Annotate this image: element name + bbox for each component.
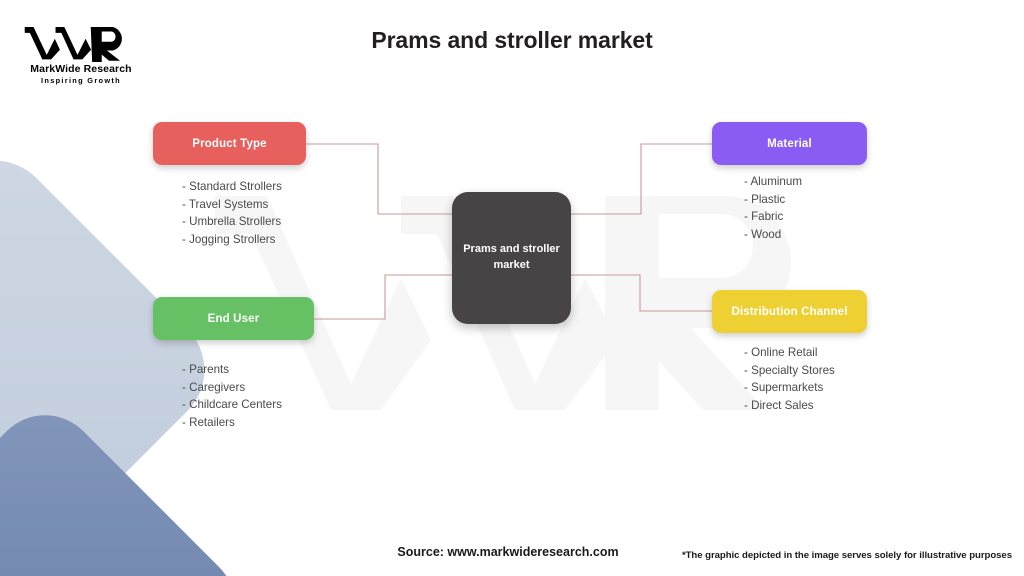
branch-items-end-user: - Parents - Caregivers - Childcare Cente…	[182, 361, 282, 431]
list-item: - Standard Strollers	[182, 178, 282, 196]
list-item: - Direct Sales	[744, 397, 835, 415]
list-item: - Online Retail	[744, 344, 835, 362]
list-item: - Retailers	[182, 414, 282, 432]
list-item: - Travel Systems	[182, 196, 282, 214]
list-item: - Childcare Centers	[182, 396, 282, 414]
branch-node-distribution-channel[interactable]: Distribution Channel	[712, 290, 867, 333]
list-item: - Plastic	[744, 191, 802, 209]
list-item: - Umbrella Strollers	[182, 213, 282, 231]
disclaimer-note: *The graphic depicted in the image serve…	[682, 550, 1012, 561]
branch-node-material[interactable]: Material	[712, 122, 867, 165]
branch-node-product-type[interactable]: Product Type	[153, 122, 306, 165]
list-item: - Jogging Strollers	[182, 231, 282, 249]
slide-canvas: MarkWide Research Inspiring Growth Prams…	[0, 0, 1024, 576]
list-item: - Aluminum	[744, 173, 802, 191]
list-item: - Supermarkets	[744, 379, 835, 397]
branch-label-distribution-channel: Distribution Channel	[731, 306, 847, 318]
branch-label-product-type: Product Type	[192, 138, 266, 150]
center-node-label: Prams and stroller market	[452, 242, 571, 274]
branch-label-end-user: End User	[208, 313, 260, 325]
list-item: - Caregivers	[182, 379, 282, 397]
branch-items-distribution-channel: - Online Retail - Specialty Stores - Sup…	[744, 344, 835, 414]
branch-label-material: Material	[767, 138, 812, 150]
branch-items-product-type: - Standard Strollers - Travel Systems - …	[182, 178, 282, 248]
list-item: - Parents	[182, 361, 282, 379]
list-item: - Fabric	[744, 208, 802, 226]
list-item: - Wood	[744, 226, 802, 244]
center-node[interactable]: Prams and stroller market	[452, 192, 571, 324]
list-item: - Specialty Stores	[744, 362, 835, 380]
branch-items-material: - Aluminum - Plastic - Fabric - Wood	[744, 173, 802, 243]
branch-node-end-user[interactable]: End User	[153, 297, 314, 340]
